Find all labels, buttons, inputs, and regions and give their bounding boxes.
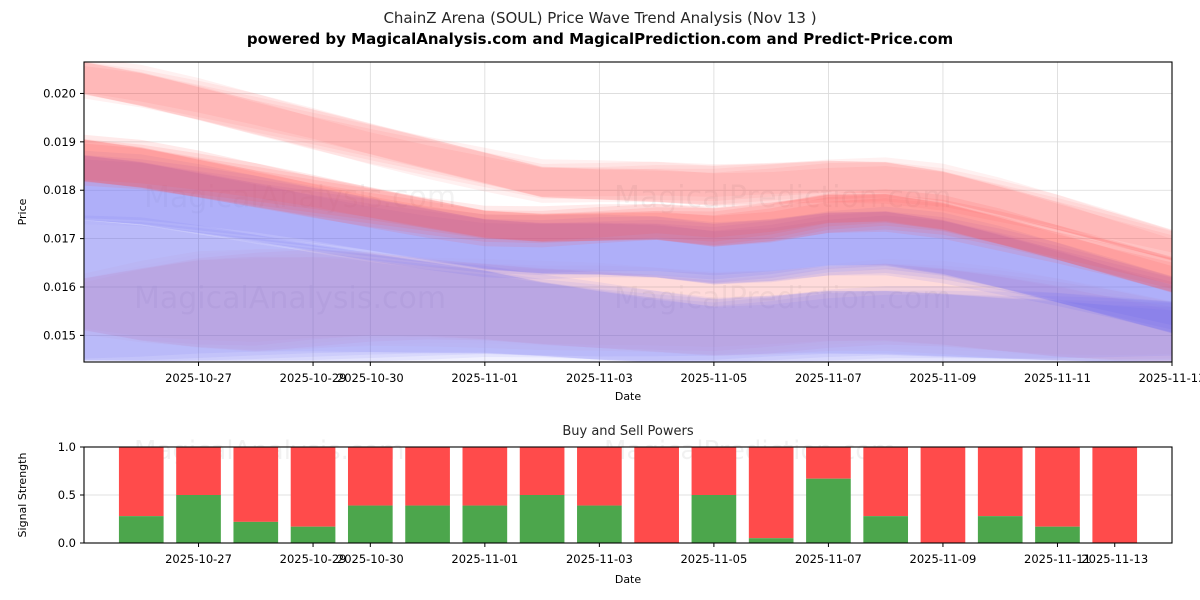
bar-sell-power <box>348 447 393 506</box>
bar-sell-power <box>978 447 1023 516</box>
bar-sell-power <box>1092 447 1137 543</box>
bar-buy-power <box>749 538 794 543</box>
x-axis-label: Date <box>615 390 642 400</box>
bar-buy-power <box>692 495 737 543</box>
x-tick-label: 2025-11-03 <box>566 552 633 566</box>
price-wave-chart: MagicalAnalysis.comMagicalPrediction.com… <box>0 55 1200 400</box>
price-wave-chart-panel: MagicalAnalysis.comMagicalPrediction.com… <box>0 55 1200 400</box>
x-tick-label: 2025-11-01 <box>451 371 518 385</box>
bar-buy-power <box>405 506 450 543</box>
bar-sell-power <box>233 447 278 522</box>
y-axis-label: Price <box>16 198 29 225</box>
bar-buy-power <box>348 506 393 543</box>
bar-sell-power <box>863 447 908 516</box>
bar-buy-power <box>463 506 508 543</box>
page-title: ChainZ Arena (SOUL) Price Wave Trend Ana… <box>0 8 1200 29</box>
x-tick-label: 2025-11-05 <box>680 371 747 385</box>
bar-buy-power <box>806 479 851 543</box>
bar-sell-power <box>806 447 851 479</box>
bar-sell-power <box>520 447 565 495</box>
bar-buy-power <box>577 506 622 543</box>
y-axis-label: Signal Strength <box>16 453 29 538</box>
bar-sell-power <box>405 447 450 506</box>
bar-sell-power <box>921 447 966 543</box>
bar-buy-power <box>291 527 336 543</box>
buy-sell-powers-panel: Buy and Sell PowersMagicalAnalysis.comMa… <box>0 408 1200 600</box>
x-tick-label: 2025-11-09 <box>910 371 977 385</box>
bar-sell-power <box>176 447 221 495</box>
bar-buy-power <box>863 516 908 543</box>
y-tick-label: 0.0 <box>58 536 76 550</box>
bar-sell-power <box>119 447 164 516</box>
y-tick-label: 0.020 <box>43 86 76 100</box>
x-tick-label: 2025-10-30 <box>337 371 404 385</box>
x-tick-label: 2025-11-13 <box>1139 371 1200 385</box>
x-tick-label: 2025-10-27 <box>165 371 232 385</box>
x-tick-label: 2025-11-01 <box>451 552 518 566</box>
y-tick-label: 0.017 <box>43 232 76 246</box>
bar-sell-power <box>463 447 508 506</box>
bar-buy-power <box>233 522 278 543</box>
x-tick-label: 2025-11-13 <box>1081 552 1148 566</box>
bar-buy-power <box>1035 527 1080 543</box>
bar-sell-power <box>749 447 794 538</box>
bar-buy-power <box>119 516 164 543</box>
x-tick-label: 2025-11-05 <box>680 552 747 566</box>
bar-buy-power <box>978 516 1023 543</box>
bar-sell-power <box>577 447 622 506</box>
x-tick-label: 2025-11-09 <box>910 552 977 566</box>
y-tick-label: 0.019 <box>43 135 76 149</box>
x-tick-label: 2025-11-03 <box>566 371 633 385</box>
bar-buy-power <box>176 495 221 543</box>
page-subtitle: powered by MagicalAnalysis.com and Magic… <box>0 29 1200 50</box>
y-tick-label: 1.0 <box>58 440 76 454</box>
bar-buy-power <box>520 495 565 543</box>
title-block: ChainZ Arena (SOUL) Price Wave Trend Ana… <box>0 8 1200 50</box>
buy-sell-powers-chart: Buy and Sell PowersMagicalAnalysis.comMa… <box>0 408 1200 600</box>
bar-sell-power <box>692 447 737 495</box>
y-tick-label: 0.018 <box>43 183 76 197</box>
x-axis-label: Date <box>615 573 642 586</box>
bar-sell-power <box>291 447 336 527</box>
bar-sell-power <box>1035 447 1080 527</box>
x-tick-label: 2025-11-07 <box>795 552 862 566</box>
chart-page: ChainZ Arena (SOUL) Price Wave Trend Ana… <box>0 0 1200 600</box>
x-tick-label: 2025-11-07 <box>795 371 862 385</box>
x-tick-label: 2025-10-30 <box>337 552 404 566</box>
x-tick-label: 2025-10-27 <box>165 552 232 566</box>
y-tick-label: 0.016 <box>43 280 76 294</box>
x-tick-label: 2025-11-11 <box>1024 371 1091 385</box>
bar-sell-power <box>634 447 679 543</box>
y-tick-label: 0.015 <box>43 328 76 342</box>
y-tick-label: 0.5 <box>58 488 76 502</box>
